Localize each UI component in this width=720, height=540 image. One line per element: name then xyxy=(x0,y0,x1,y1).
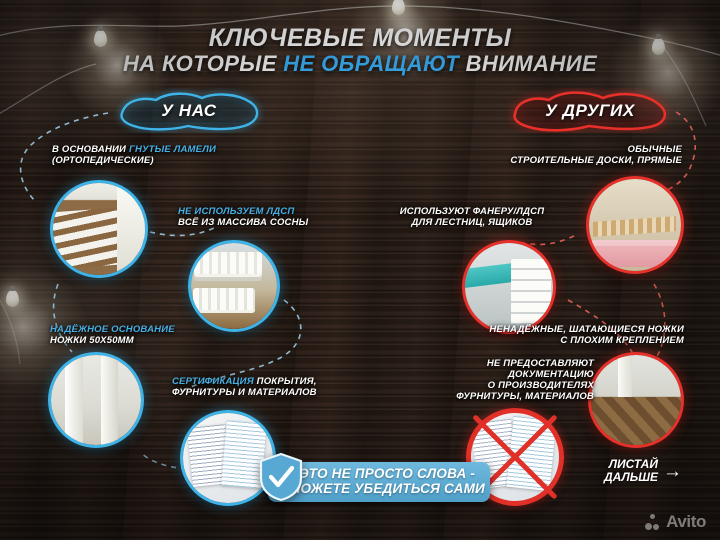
wobbly-leg-photo[interactable] xyxy=(588,352,684,448)
caption-plywood-line1: ИСПОЛЬЗУЮТ ФАНЕРУ/ЛДСП xyxy=(400,206,544,217)
plywood-drawer-photo[interactable] xyxy=(462,240,556,334)
caption-certs-line2: ПОКРЫТИЯ, xyxy=(254,376,317,387)
caption-boards-line1: ОБЫЧНЫЕ xyxy=(628,144,682,155)
caption-certs-line3: ФУРНИТУРЫ И МАТЕРИАЛОВ xyxy=(172,387,317,398)
column-header-them: У ДРУГИХ xyxy=(505,88,675,133)
caption-certs-highlight: СЕРТИФИКАЦИЯ xyxy=(172,376,254,387)
bed-slats-image xyxy=(53,183,145,275)
us-label: У НАС xyxy=(161,101,216,121)
caption-slats-line2: (ОРТОПЕДИЧЕСКИЕ) xyxy=(52,155,154,166)
cta-banner-text: ЭТО НЕ ПРОСТО СЛОВА - МОЖЕТЕ УБЕДИТЬСЯ С… xyxy=(273,467,485,497)
wobbly-leg-image xyxy=(591,355,681,445)
arrow-right-icon: → xyxy=(663,462,682,481)
caption-plywood: ИСПОЛЬЗУЮТ ФАНЕРУ/ЛДСП ДЛЯ ЛЕСТНИЦ, ЯЩИК… xyxy=(372,206,572,228)
caption-badlegs: НЕНАДЁЖНЫЕ, ШАТАЮЩИЕСЯ НОЖКИ С ПЛОХИМ КР… xyxy=(444,324,684,346)
caption-legs: НАДЁЖНОЕ ОСНОВАНИЕ НОЖКИ 50Х50ММ xyxy=(50,324,250,346)
bunk-bed-photo[interactable] xyxy=(188,240,280,332)
plain-boards-photo[interactable] xyxy=(586,176,684,274)
avito-logo-icon xyxy=(645,514,662,531)
avito-watermark: Avito xyxy=(645,512,706,532)
column-header-us: У НАС xyxy=(112,88,266,133)
bed-slats-photo[interactable] xyxy=(50,180,148,278)
swipe-hint-text: ЛИСТАЙ ДАЛЬШЕ xyxy=(604,458,658,485)
caption-boards: ОБЫЧНЫЕ СТРОИТЕЛЬНЫЕ ДОСКИ, ПРЯМЫЕ xyxy=(460,144,682,166)
swipe-line-2: ДАЛЬШЕ xyxy=(604,470,658,484)
cta-line-1: ЭТО НЕ ПРОСТО СЛОВА - xyxy=(299,466,475,481)
cta-line-2: МОЖЕТЕ УБЕДИТЬСЯ САМИ xyxy=(289,481,485,496)
caption-nodocs-line2: ДОКУМЕНТАЦИЮ xyxy=(508,369,594,380)
caption-badlegs-line2: С ПЛОХИМ КРЕПЛЕНИЕМ xyxy=(560,335,684,346)
avito-wordmark: Avito xyxy=(666,512,706,532)
caption-plywood-line2: ДЛЯ ЛЕСТНИЦ, ЯЩИКОВ xyxy=(412,217,533,228)
headline-line-1: КЛЮЧЕВЫЕ МОМЕНТЫ xyxy=(0,25,720,51)
caption-nodocs: НЕ ПРЕДОСТАВЛЯЮТ ДОКУМЕНТАЦИЮ О ПРОИЗВОД… xyxy=(394,358,594,402)
them-label: У ДРУГИХ xyxy=(545,101,635,121)
caption-massif-line2: ВСЁ ИЗ МАССИВА СОСНЫ xyxy=(178,217,308,228)
headline-line-2: НА КОТОРЫЕ НЕ ОБРАЩАЮТ ВНИМАНИЕ xyxy=(0,53,720,76)
caption-certs: СЕРТИФИКАЦИЯ ПОКРЫТИЯ, ФУРНИТУРЫ И МАТЕР… xyxy=(172,376,372,398)
plain-boards-image xyxy=(589,179,681,271)
caption-nodocs-line3: О ПРОИЗВОДИТЕЛЯХ xyxy=(488,380,594,391)
caption-slats-highlight: ГНУТЫЕ ЛАМЕЛИ xyxy=(129,144,216,155)
caption-nodocs-line1: НЕ ПРЕДОСТАВЛЯЮТ xyxy=(487,358,594,369)
swipe-line-1: ЛИСТАЙ xyxy=(609,457,658,471)
infographic-canvas: КЛЮЧЕВЫЕ МОМЕНТЫ НА КОТОРЫЕ НЕ ОБРАЩАЮТ … xyxy=(0,0,720,540)
caption-legs-line2: НОЖКИ 50Х50ММ xyxy=(50,335,134,346)
pine-leg-image xyxy=(51,355,141,445)
swipe-hint[interactable]: ЛИСТАЙ ДАЛЬШЕ → xyxy=(604,458,682,485)
plywood-drawer-image xyxy=(465,243,553,331)
caption-slats-prefix: В ОСНОВАНИИ xyxy=(52,144,129,155)
caption-massif-highlight: НЕ ИСПОЛЬЗУЕМ ЛДСП xyxy=(178,206,294,217)
shield-check-icon xyxy=(258,452,304,502)
caption-badlegs-line1: НЕНАДЁЖНЫЕ, ШАТАЮЩИЕСЯ НОЖКИ xyxy=(489,324,684,335)
caption-legs-highlight: НАДЁЖНОЕ ОСНОВАНИЕ xyxy=(50,324,175,335)
page-title: КЛЮЧЕВЫЕ МОМЕНТЫ НА КОТОРЫЕ НЕ ОБРАЩАЮТ … xyxy=(0,25,720,76)
headline-suffix: ВНИМАНИЕ xyxy=(459,51,597,76)
caption-slats: В ОСНОВАНИИ ГНУТЫЕ ЛАМЕЛИ (ОРТОПЕДИЧЕСКИ… xyxy=(52,144,252,166)
caption-boards-line2: СТРОИТЕЛЬНЫЕ ДОСКИ, ПРЯМЫЕ xyxy=(510,155,682,166)
pine-leg-photo[interactable] xyxy=(48,352,144,448)
bunk-bed-image xyxy=(191,243,277,329)
headline-prefix: НА КОТОРЫЕ xyxy=(123,51,283,76)
caption-massif: НЕ ИСПОЛЬЗУЕМ ЛДСП ВСЁ ИЗ МАССИВА СОСНЫ xyxy=(178,206,378,228)
caption-nodocs-line4: ФУРНИТУРЫ, МАТЕРИАЛОВ xyxy=(456,391,594,402)
headline-accent: НЕ ОБРАЩАЮТ xyxy=(283,51,459,76)
